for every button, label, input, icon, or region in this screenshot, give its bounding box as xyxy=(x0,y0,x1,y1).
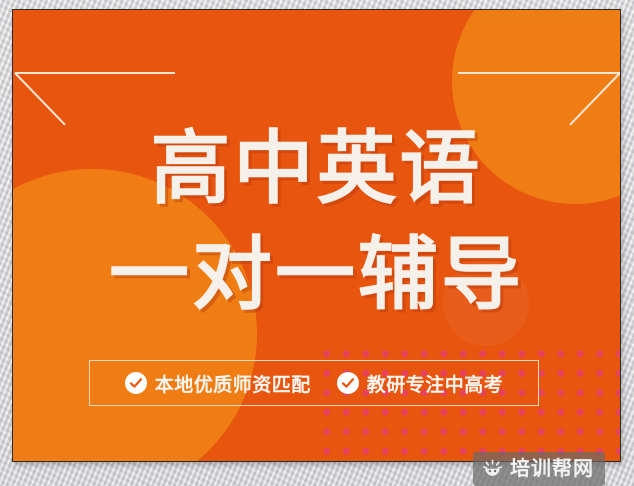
watermark-text: 培训帮网 xyxy=(510,459,594,479)
canvas: 高中英语 一对一辅导 本地优质师资匹配 教研专注中高考 xyxy=(0,0,634,486)
promo-poster: 高中英语 一对一辅导 本地优质师资匹配 教研专注中高考 xyxy=(12,9,621,462)
headline-line-1: 高中英语 xyxy=(151,124,483,213)
check-circle-icon xyxy=(337,372,359,394)
headline-line-2: 一对一辅导 xyxy=(13,222,620,328)
feature-item-local-teachers: 本地优质师资匹配 xyxy=(125,370,311,397)
feature-item-exam-focus: 教研专注中高考 xyxy=(337,370,504,397)
poster-headline: 高中英语 一对一辅导 xyxy=(13,116,620,328)
corner-rule-top-right-horizontal xyxy=(458,72,620,74)
check-circle-icon xyxy=(125,372,147,394)
feature-label: 教研专注中高考 xyxy=(367,370,504,397)
site-watermark: 培训帮网 xyxy=(473,452,605,486)
sun-face-icon xyxy=(482,459,503,480)
corner-rule-top-left-horizontal xyxy=(15,72,175,74)
feature-badge-box: 本地优质师资匹配 教研专注中高考 xyxy=(89,360,539,406)
feature-label: 本地优质师资匹配 xyxy=(155,370,311,397)
